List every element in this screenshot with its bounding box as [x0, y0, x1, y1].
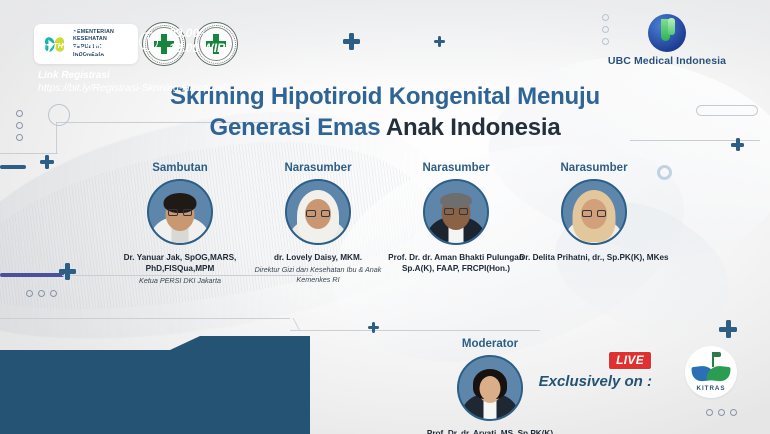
exclusively-on-label: Exclusively on :: [539, 373, 652, 390]
decor-plus-bottom-right: [719, 320, 737, 338]
event-details-content: Kamis 07TH 09 2023 09.00 - 12.00 WIB Lin…: [38, 24, 226, 94]
speaker-role-3: Narasumber: [381, 162, 531, 174]
speaker-name-2: dr. Lovely Daisy, MKM.: [243, 252, 393, 263]
speaker-name-4: Dr. Delita Prihatni, dr., Sp.PK(K), MKes: [519, 252, 669, 263]
speaker-card-1: Sambutan Dr. Yanuar Jak, SpOG,MARS, PhD,…: [105, 162, 255, 286]
decor-plus-top-center-small: [434, 36, 445, 47]
accent-divider-bottom-right: [290, 330, 540, 331]
decor-plus-left-lower: [59, 263, 76, 280]
moderator-role: Moderator: [390, 338, 590, 350]
kitras-platform-logo: KITRAS: [680, 346, 742, 398]
event-time-line-1: 09.00 -: [169, 26, 226, 41]
live-badge: LIVE: [608, 351, 652, 370]
accent-bar-purple-left: [0, 273, 64, 277]
kitras-label: KITRAS: [685, 385, 737, 392]
webinar-poster: KEMENTERIAN KESEHATAN REPUBLIK INDONESIA…: [0, 0, 770, 434]
speaker-portrait-1: [147, 179, 213, 245]
event-day: Kamis: [38, 24, 116, 41]
speaker-name-3: Prof. Dr. dr. Aman Bhakti Pulungan Sp.A(…: [381, 252, 531, 274]
datetime-separator: [127, 26, 128, 56]
speaker-subtitle-1: Ketua PERSI DKI Jakarta: [105, 276, 255, 286]
moderator-portrait: [457, 355, 523, 421]
event-date-line: 07TH 09 2023: [38, 41, 116, 58]
ubc-logo-icon: [648, 14, 686, 52]
ubc-brand: UBC Medical Indonesia: [592, 14, 742, 67]
ubc-brand-label: UBC Medical Indonesia: [592, 55, 742, 67]
event-time-line-2: 12.00 WIB: [169, 41, 226, 56]
kitras-mark-icon: KITRAS: [685, 346, 737, 398]
speaker-portrait-3: [423, 179, 489, 245]
decor-dots-bottom-right: [706, 409, 737, 416]
registration-link[interactable]: https://bit.ly/Registrasi-Skrining-Hipot…: [38, 82, 226, 94]
speaker-subtitle-2: Direktur Gizi dan Kesehatan Ibu & Anak K…: [243, 265, 393, 284]
speaker-card-4: Narasumber Dr. Delita Prihatni, dr., Sp.…: [519, 162, 669, 265]
clock-icon: [139, 32, 158, 51]
event-date: Kamis 07TH 09 2023: [38, 24, 116, 58]
speaker-portrait-2: [285, 179, 351, 245]
registration-label: Link Registrasi: [38, 70, 226, 81]
speaker-card-2: Narasumber dr. Lovely Daisy, MKM. Direkt…: [243, 162, 393, 285]
accent-divider-step: [280, 318, 301, 331]
broadcast-info: LIVE Exclusively on :: [539, 351, 652, 390]
speaker-portrait-4: [561, 179, 627, 245]
title-line-2: Generasi Emas Anak Indonesia: [0, 113, 770, 144]
event-details-panel: [0, 336, 310, 434]
accent-divider-bottom-left: [0, 318, 290, 319]
accent-bar-navy-left: [0, 165, 26, 169]
title-line-2-dark: Anak Indonesia: [386, 114, 561, 141]
event-datetime-row: Kamis 07TH 09 2023 09.00 - 12.00 WIB: [38, 24, 226, 58]
speaker-role-4: Narasumber: [519, 162, 669, 174]
speaker-name-1: Dr. Yanuar Jak, SpOG,MARS, PhD,FISQua,MP…: [105, 252, 255, 274]
speaker-card-3: Narasumber Prof. Dr. dr. Aman Bhakti Pul…: [381, 162, 531, 276]
speaker-role-2: Narasumber: [243, 162, 393, 174]
accent-line-left-1: [0, 153, 58, 154]
decor-dots-left-horizontal: [26, 290, 57, 297]
decor-plus-top-center: [343, 33, 360, 50]
decor-plus-left: [40, 155, 54, 169]
title-line-2-blue: Generasi Emas: [210, 114, 381, 141]
decor-plus-bottom-center: [368, 322, 379, 333]
speaker-role-1: Sambutan: [105, 162, 255, 174]
event-time: 09.00 - 12.00 WIB: [169, 26, 226, 56]
moderator-name: Prof. Dr. dr. Aryati, MS, Sp.PK(K): [390, 428, 590, 434]
